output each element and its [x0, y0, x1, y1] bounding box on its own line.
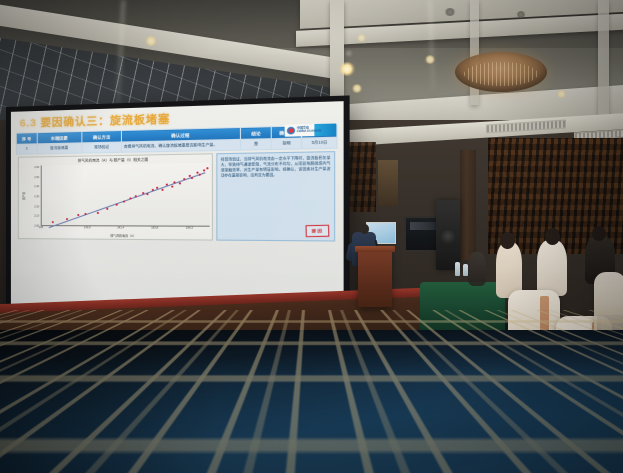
chart-data-point: [147, 194, 149, 196]
podium-top: [355, 246, 395, 252]
spotlight: [144, 36, 158, 46]
scatter-chart-card: 排气风机电流（A）与 脱产量（t）相关之图 脱产量 2.602.502.402.…: [18, 153, 213, 240]
x-tick-label: 140.0: [84, 226, 91, 229]
logo-mark-icon: [287, 127, 295, 135]
y-tick-label: 2.20: [34, 205, 39, 208]
chart-data-point: [123, 201, 125, 203]
chart-data-point: [106, 208, 108, 210]
audience-head: [500, 232, 515, 249]
chart-data-point: [191, 177, 193, 179]
y-axis-ticks: 脱产量 2.602.502.402.302.202.102.00: [21, 165, 41, 226]
key-factor-stamp: 要因: [305, 225, 329, 238]
cell-date: 5月10日: [302, 138, 337, 149]
slide-title-text: 要因确认三：旋流板堵塞: [40, 113, 170, 129]
col-conclusion: 结论: [241, 127, 271, 140]
spotlight: [338, 62, 356, 76]
chart-data-point: [198, 174, 200, 176]
col-method: 确认方法: [82, 131, 122, 144]
slide-body: 排气风机电流（A）与 脱产量（t）相关之图 脱产量 2.602.502.402.…: [16, 151, 338, 242]
y-tick-label: 2.40: [34, 185, 39, 188]
chart-data-point: [203, 169, 205, 171]
spotlight: [356, 34, 367, 42]
x-axis-ticks: 138140.0141.4142.8144.2: [41, 226, 210, 234]
chart-data-point: [151, 189, 153, 191]
banquet-chair: [594, 272, 623, 334]
plot-area: [41, 163, 210, 227]
podium: [358, 249, 392, 307]
audience-head: [545, 228, 560, 245]
spotlight-off: [516, 11, 526, 18]
presenter-head: [360, 224, 369, 234]
chart-data-point: [115, 204, 117, 206]
conference-room-photo: 6.3 要因确认三：旋流板堵塞 中国华电 CHINA HUADIAN 序 号 末…: [0, 0, 623, 473]
wall-pillar: [460, 150, 476, 260]
spotlight: [556, 90, 567, 98]
x-tick-label: 138: [39, 226, 43, 229]
plot-area-wrapper: 脱产量 2.602.502.402.302.202.102.00: [21, 163, 210, 227]
slide-title-number: 6.3: [20, 117, 37, 130]
carpet-shading: [0, 330, 623, 473]
chart-data-point: [96, 211, 98, 213]
cell-factor: 旋流板堵塞: [37, 143, 82, 154]
col-index: 序 号: [16, 133, 37, 145]
col-factor: 末端因素: [37, 132, 82, 144]
x-tick-label: 141.4: [117, 226, 124, 229]
x-tick-label: 144.2: [186, 227, 193, 230]
y-tick-label: 2.10: [34, 215, 39, 218]
logo-text: 中国华电 CHINA HUADIAN: [297, 127, 321, 134]
wall-panel: [378, 160, 398, 206]
y-tick-label: 2.50: [34, 176, 39, 179]
chart-data-point: [179, 182, 181, 184]
chart-data-point: [183, 178, 185, 180]
chart-trendline: [49, 172, 205, 227]
y-tick-label: 2.30: [34, 195, 39, 198]
conclusion-info-box: 经现场验证，当排气风机电流由一定水平下降时，旋流板积灰量大，导致排气通道受阻，气…: [216, 151, 335, 241]
chart-data-point: [161, 188, 163, 190]
chart-data-point: [85, 213, 87, 215]
cell-index: 3: [16, 144, 37, 154]
chandelier: [455, 52, 547, 92]
cell-process: 查看排气风机电流、确认旋流板堵塞是否影响生产量。: [122, 140, 241, 153]
y-tick-label: 2.60: [34, 166, 39, 169]
chart-data-point: [206, 167, 208, 169]
cell-method: 现场验证: [82, 142, 122, 153]
chart-data-point: [142, 192, 144, 194]
water-bottle: [455, 262, 460, 276]
chart-data-point: [52, 221, 54, 223]
company-logo: 中国华电 CHINA HUADIAN: [285, 123, 337, 136]
audience-member: [537, 240, 567, 296]
cell-confirmer: 张明: [271, 138, 302, 149]
spotlight-off: [444, 8, 456, 16]
audience-member: [468, 252, 486, 286]
carpet-floor: [0, 330, 623, 473]
chart-data-point: [135, 196, 137, 198]
cell-conclusion: 是: [241, 139, 271, 150]
chart-data-point: [171, 185, 173, 187]
info-box-text: 经现场验证，当排气风机电流由一定水平下降时，旋流板积灰量大，导致排气通道受阻，气…: [221, 155, 331, 179]
spotlight-off: [344, 50, 354, 57]
y-axis-label: 脱产量: [22, 192, 26, 200]
x-tick-label: 142.8: [151, 226, 158, 229]
spotlight: [351, 84, 363, 93]
pa-speaker-cabinet: [436, 200, 460, 270]
audience-head: [592, 226, 606, 241]
